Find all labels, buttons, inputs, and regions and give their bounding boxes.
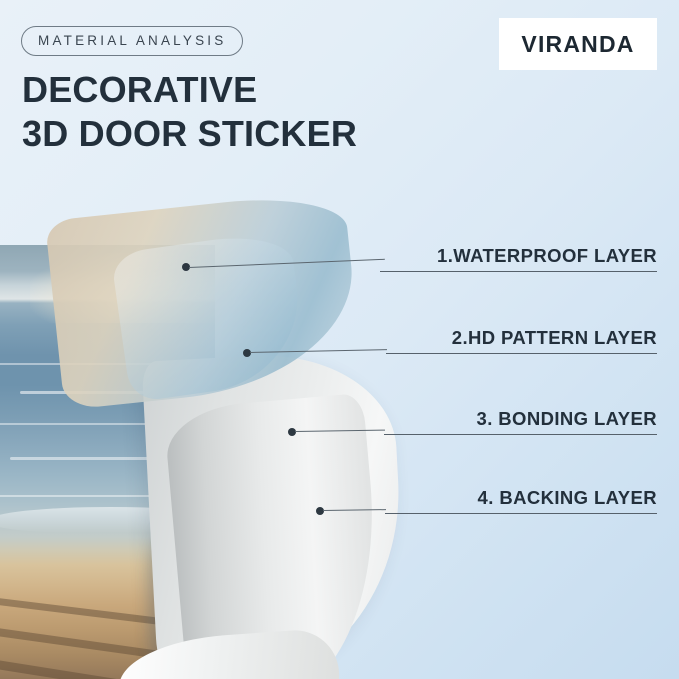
callout-rule-2 (386, 353, 657, 354)
callout-label-4: 4. BACKING LAYER (478, 487, 657, 509)
page-title: DECORATIVE 3D DOOR STICKER (22, 68, 357, 156)
badge-material-analysis: MATERIAL ANALYSIS (21, 26, 243, 56)
callout-rule-3 (384, 434, 657, 435)
product-peel-illustration (0, 205, 430, 679)
callout-label-2: 2.HD PATTERN LAYER (452, 327, 657, 349)
callout-rule-1 (380, 271, 657, 272)
callout-label-1: 1.WATERPROOF LAYER (437, 245, 657, 267)
callout-label-3: 3. BONDING LAYER (477, 408, 657, 430)
wave-line (0, 423, 150, 425)
brand-logo-box: VIRANDA (499, 18, 657, 70)
brand-name: VIRANDA (521, 31, 634, 58)
page-title-line1: DECORATIVE (22, 69, 257, 110)
page-title-line2: 3D DOOR STICKER (22, 112, 357, 156)
callout-rule-4 (385, 513, 657, 514)
poster-canvas: MATERIAL ANALYSIS DECORATIVE 3D DOOR STI… (0, 0, 679, 679)
